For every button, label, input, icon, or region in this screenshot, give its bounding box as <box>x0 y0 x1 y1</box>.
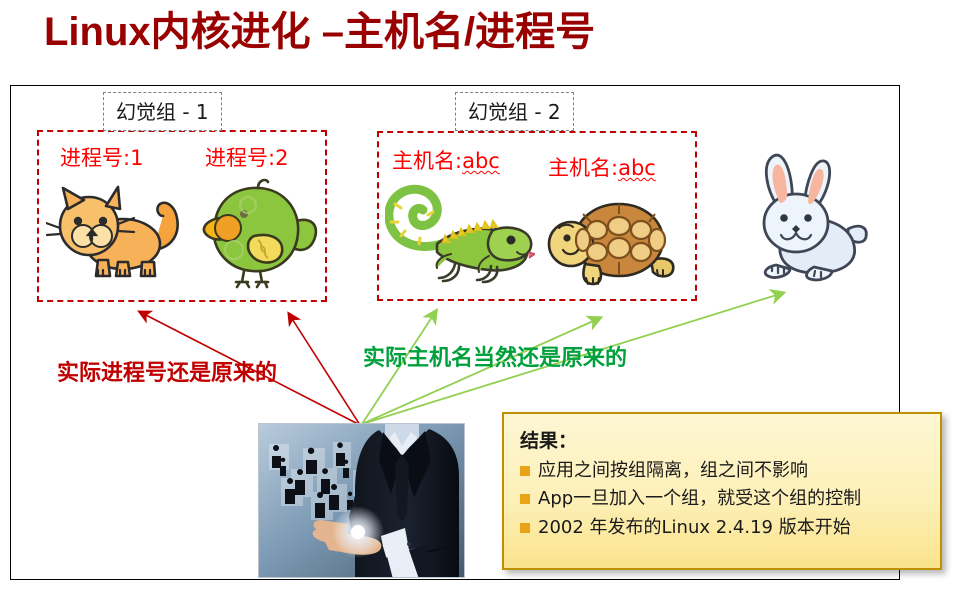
result-item-text: App一旦加入一个组，就受这个组的控制 <box>538 487 861 511</box>
result-box: 结果： 应用之间按组隔离，组之间不影响 App一旦加入一个组，就受这个组的控制 … <box>502 412 942 570</box>
label-prefix: 主机名: <box>548 156 618 180</box>
label-process-id-1: 进程号:1 <box>60 142 143 172</box>
label-value: 2 <box>275 146 288 170</box>
businessman-photo <box>258 423 465 578</box>
annotation-process-id: 实际进程号还是原来的 <box>57 355 277 387</box>
turtle-illustration <box>543 190 679 288</box>
group-caption-1: 幻觉组 - 1 <box>103 92 222 131</box>
annotation-hostname: 实际主机名当然还是原来的 <box>363 340 627 372</box>
result-item-text: 2002 年发布的Linux 2.4.19 版本开始 <box>538 516 851 540</box>
page-title: Linux内核进化 –主机名/进程号 <box>44 8 595 56</box>
bird-illustration <box>196 178 324 290</box>
label-hostname-1: 主机名:abc <box>392 145 500 175</box>
label-prefix: 进程号: <box>205 146 275 170</box>
label-prefix: 进程号: <box>60 146 130 170</box>
label-process-id-2: 进程号:2 <box>205 142 288 172</box>
result-list-item: 2002 年发布的Linux 2.4.19 版本开始 <box>520 516 926 540</box>
cat-illustration <box>46 178 191 288</box>
result-list-item: 应用之间按组隔离，组之间不影响 <box>520 459 926 483</box>
label-prefix: 主机名: <box>392 149 462 173</box>
bullet-icon <box>520 466 530 476</box>
label-hostname-2: 主机名:abc <box>548 152 656 182</box>
result-title: 结果： <box>520 426 926 453</box>
bullet-icon <box>520 494 530 504</box>
result-list-item: App一旦加入一个组，就受这个组的控制 <box>520 487 926 511</box>
label-value: 1 <box>130 146 143 170</box>
label-value: abc <box>462 149 500 173</box>
bullet-icon <box>520 523 530 533</box>
label-value: abc <box>618 156 656 180</box>
rabbit-illustration <box>752 145 874 290</box>
result-item-text: 应用之间按组隔离，组之间不影响 <box>538 459 808 483</box>
group-caption-2: 幻觉组 - 2 <box>455 92 574 131</box>
lizard-illustration <box>385 182 535 286</box>
